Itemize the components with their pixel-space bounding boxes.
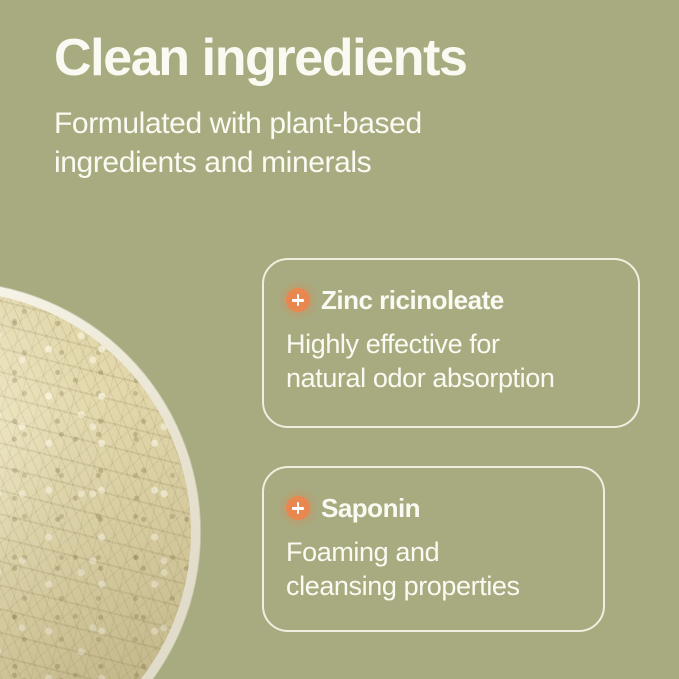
ingredient-card-header: Zinc ricinoleate — [286, 286, 616, 314]
powder-texture-grain — [0, 291, 191, 679]
page-title: Clean ingredients — [54, 28, 614, 88]
ingredient-description: Foaming and cleansing properties — [286, 535, 581, 603]
ingredient-description: Highly effective for natural odor absorp… — [286, 327, 616, 395]
ingredient-title: Zinc ricinoleate — [321, 286, 504, 314]
header: Clean ingredients Formulated with plant-… — [54, 28, 614, 182]
ingredient-description-line-1: Foaming and — [286, 535, 581, 569]
powder-surface — [0, 291, 191, 679]
ingredient-card-saponin[interactable]: Saponin Foaming and cleansing properties — [262, 466, 605, 632]
powder-shading — [0, 291, 191, 679]
ingredient-description-line-2: natural odor absorption — [286, 361, 616, 395]
powder-texture-cracks-1 — [0, 291, 191, 679]
plus-icon — [286, 288, 310, 312]
ingredient-title: Saponin — [321, 494, 420, 522]
powder-texture-cracks-2 — [0, 291, 191, 679]
ingredient-description-line-1: Highly effective for — [286, 327, 616, 361]
powder-dish-image — [0, 282, 200, 679]
page-subtitle-line-1: Formulated with plant-based — [54, 104, 614, 143]
ingredient-card-header: Saponin — [286, 494, 581, 522]
product-feature-panel: Clean ingredients Formulated with plant-… — [0, 0, 679, 679]
page-subtitle-line-2: ingredients and minerals — [54, 143, 614, 182]
ingredient-description-line-2: cleansing properties — [286, 569, 581, 603]
plus-icon — [286, 496, 310, 520]
page-subtitle: Formulated with plant-based ingredients … — [54, 104, 614, 182]
ingredient-card-zinc-ricinoleate[interactable]: Zinc ricinoleate Highly effective for na… — [262, 258, 640, 428]
